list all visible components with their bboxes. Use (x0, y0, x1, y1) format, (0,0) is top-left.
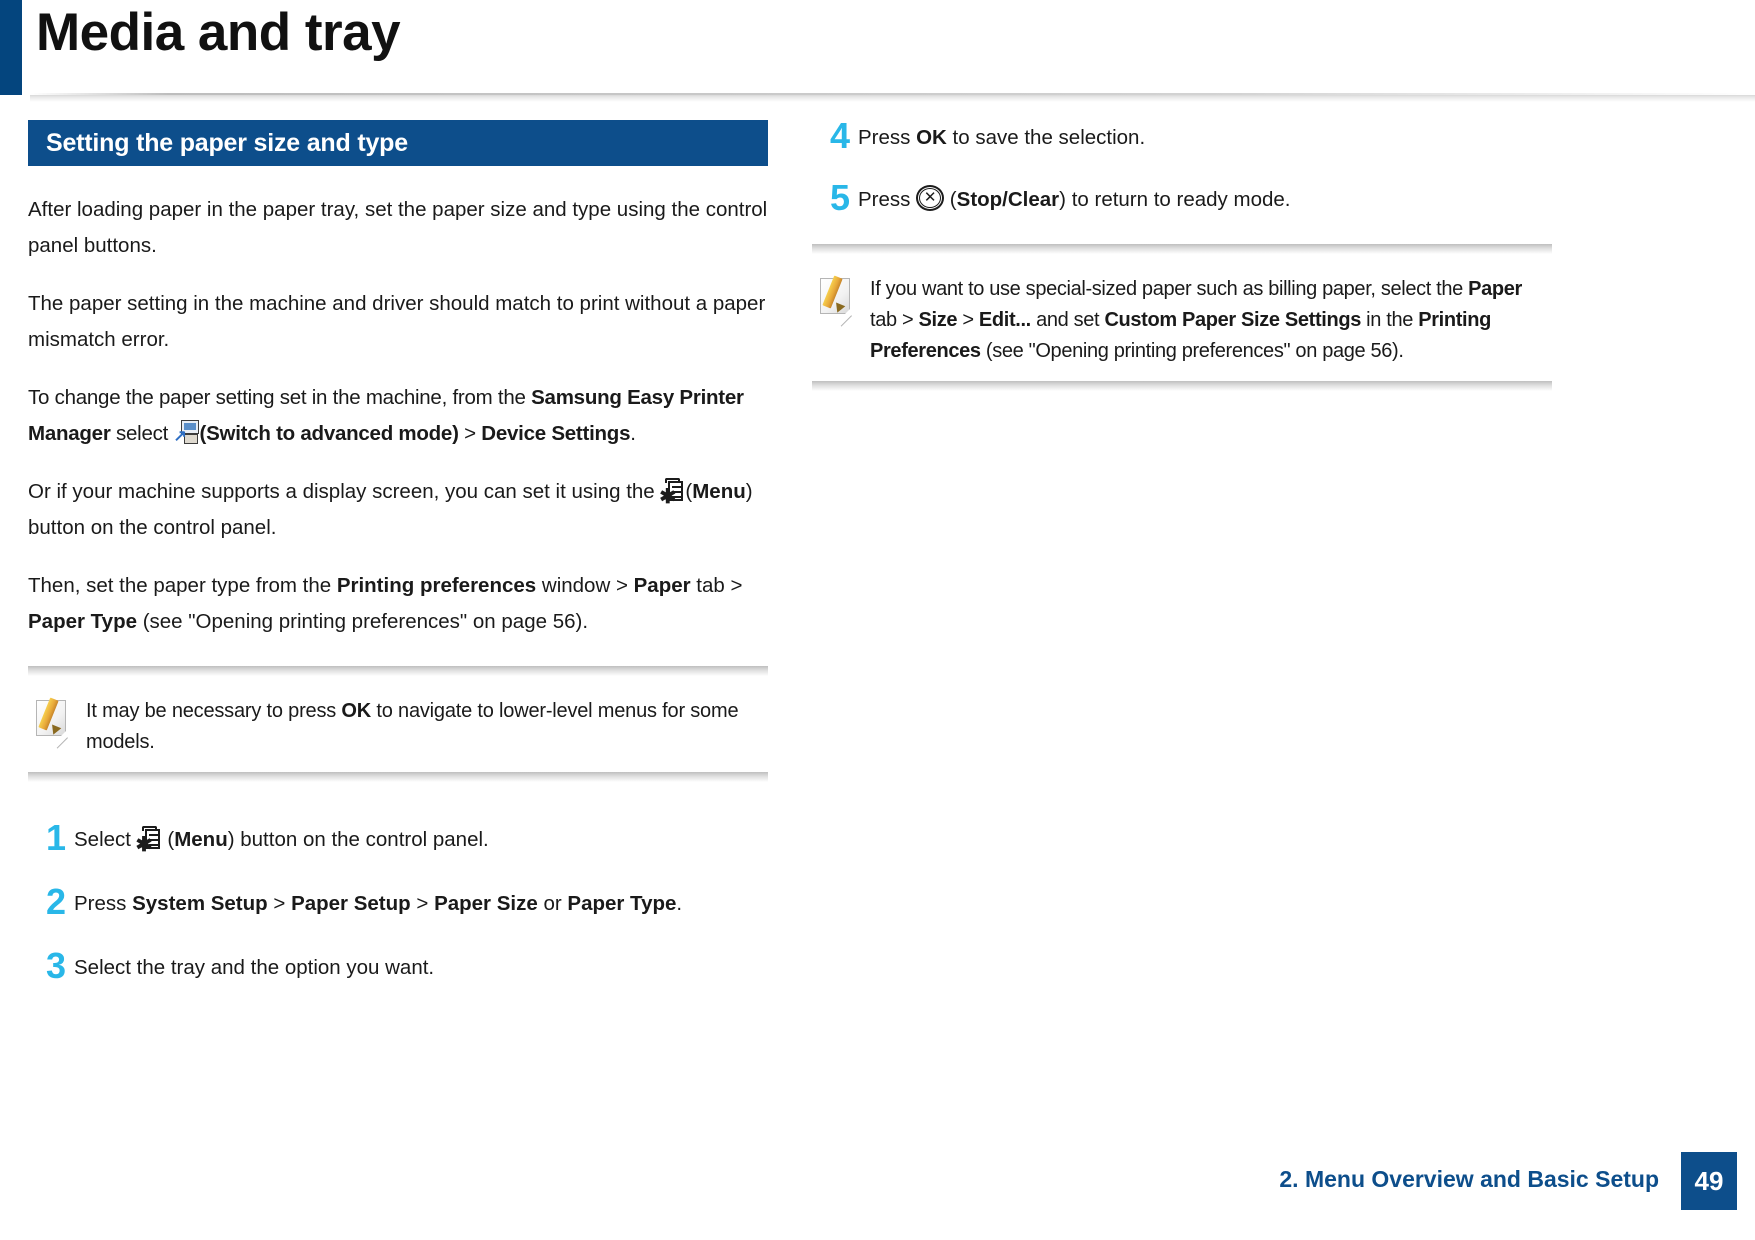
section-banner: Setting the paper size and type (28, 120, 768, 166)
step-text: Select ✱ (Menu) button on the control pa… (74, 822, 489, 856)
step-number: 1 (28, 822, 74, 854)
text-fragment: tab > (691, 574, 743, 597)
page-footer: 2. Menu Overview and Basic Setup 49 (0, 1158, 1755, 1204)
text-fragment: Then, set the paper type from the (28, 574, 337, 597)
paragraph-intro: After loading paper in the paper tray, s… (28, 192, 768, 264)
footer-chapter-label: 2. Menu Overview and Basic Setup (1279, 1166, 1659, 1193)
menu-button-icon: ✱ (660, 478, 685, 503)
stop-clear-icon: ✕ (916, 185, 944, 211)
term-menu: Menu (174, 828, 228, 851)
term-system-setup: System Setup (132, 892, 268, 915)
step-item: 4 Press OK to save the selection. (812, 120, 1552, 154)
term-device-settings: Device Settings (481, 422, 630, 445)
text-fragment: . (630, 422, 635, 445)
term-paper-type: Paper Type (567, 892, 676, 915)
text-fragment: ) button on the control panel. (228, 828, 489, 851)
menu-button-icon: ✱ (137, 826, 162, 851)
term-paper: Paper (1468, 278, 1522, 300)
text-fragment: in the (1361, 309, 1418, 331)
text-fragment: Or if your machine supports a display sc… (28, 480, 660, 503)
text-fragment: window > (536, 574, 633, 597)
note-text-left: It may be necessary to press OK to navig… (86, 696, 764, 758)
page-title: Media and tray (36, 4, 400, 62)
note-divider-bottom (812, 381, 1552, 391)
section-title: Setting the paper size and type (28, 129, 408, 158)
text-fragment: ) to return to ready mode. (1059, 188, 1290, 211)
term-size: Size (919, 309, 958, 331)
header-accent-bar (0, 0, 22, 95)
text-fragment: Select (74, 828, 137, 851)
step-item: 5 Press ✕ (Stop/Clear) to return to read… (812, 182, 1552, 216)
text-fragment: ( (162, 828, 175, 851)
note-box-right: If you want to use special-sized paper s… (812, 244, 1552, 391)
term-switch-to-advanced-mode: (Switch to advanced mode) (200, 422, 459, 445)
right-column: 4 Press OK to save the selection. 5 Pres… (812, 120, 1552, 391)
text-fragment: (see "Opening printing preferences" on p… (137, 610, 588, 633)
text-fragment: to save the selection. (947, 126, 1145, 149)
text-fragment: It may be necessary to press (86, 700, 341, 722)
step-item: 1 Select ✱ (Menu) button on the control … (28, 822, 768, 856)
text-fragment: . (676, 892, 682, 915)
text-fragment: and set (1031, 309, 1105, 331)
text-fragment: If you want to use special-sized paper s… (870, 278, 1468, 300)
step-text: Select the tray and the option you want. (74, 950, 434, 984)
step-number: 3 (28, 950, 74, 982)
header-divider (30, 93, 1755, 102)
footer-page-number: 49 (1681, 1152, 1737, 1210)
term-stop-clear: Stop/Clear (957, 188, 1060, 211)
term-edit: Edit... (979, 309, 1031, 331)
text-fragment: > (957, 309, 979, 331)
switch-to-advanced-mode-icon: ↗ (174, 420, 200, 445)
term-paper-size: Paper Size (434, 892, 538, 915)
page-header: Media and tray (0, 0, 1755, 100)
step-text: Press System Setup > Paper Setup > Paper… (74, 886, 682, 920)
text-fragment: > (268, 892, 291, 915)
step-text: Press ✕ (Stop/Clear) to return to ready … (858, 182, 1290, 216)
text-fragment: ( (944, 188, 957, 211)
text-fragment: To change the paper setting set in the m… (28, 386, 531, 409)
term-ok: OK (916, 126, 947, 149)
step-number: 5 (812, 182, 858, 214)
paragraph-mismatch: The paper setting in the machine and dri… (28, 286, 768, 358)
note-pencil-icon (36, 700, 68, 738)
step-text: Press OK to save the selection. (858, 120, 1145, 154)
text-fragment: tab > (870, 309, 919, 331)
paragraph-printing-preferences: Then, set the paper type from the Printi… (28, 568, 768, 640)
note-pencil-icon (820, 278, 852, 316)
paragraph-easy-printer-manager: To change the paper setting set in the m… (28, 380, 768, 452)
paragraph-display-screen: Or if your machine supports a display sc… (28, 474, 768, 546)
note-divider-top (812, 244, 1552, 254)
steps-list-left: 1 Select ✱ (Menu) button on the control … (28, 822, 768, 984)
text-fragment: Press (858, 188, 916, 211)
term-menu: Menu (692, 480, 746, 503)
step-item: 2 Press System Setup > Paper Setup > Pap… (28, 886, 768, 920)
text-fragment: > (459, 422, 482, 445)
text-fragment: or (538, 892, 568, 915)
term-paper-setup: Paper Setup (291, 892, 411, 915)
steps-list-right: 4 Press OK to save the selection. 5 Pres… (812, 120, 1552, 216)
term-printing-preferences: Printing preferences (337, 574, 536, 597)
note-divider-bottom (28, 772, 768, 782)
step-item: 3 Select the tray and the option you wan… (28, 950, 768, 984)
note-box-left: It may be necessary to press OK to navig… (28, 666, 768, 782)
step-number: 4 (812, 120, 858, 152)
text-fragment: select (111, 422, 174, 445)
text-fragment: Press (858, 126, 916, 149)
text-fragment: Press (74, 892, 132, 915)
text-fragment: (see "Opening printing preferences" on p… (981, 340, 1404, 362)
left-column: Setting the paper size and type After lo… (28, 120, 768, 1014)
term-custom-paper-size-settings: Custom Paper Size Settings (1104, 309, 1361, 331)
step-number: 2 (28, 886, 74, 918)
term-paper-tab: Paper (634, 574, 691, 597)
text-fragment: > (411, 892, 434, 915)
term-ok: OK (341, 700, 371, 722)
note-text-right: If you want to use special-sized paper s… (870, 274, 1548, 367)
paragraph-mismatch-text: The paper setting in the machine and dri… (28, 292, 765, 351)
term-paper-type: Paper Type (28, 610, 137, 633)
note-divider-top (28, 666, 768, 676)
